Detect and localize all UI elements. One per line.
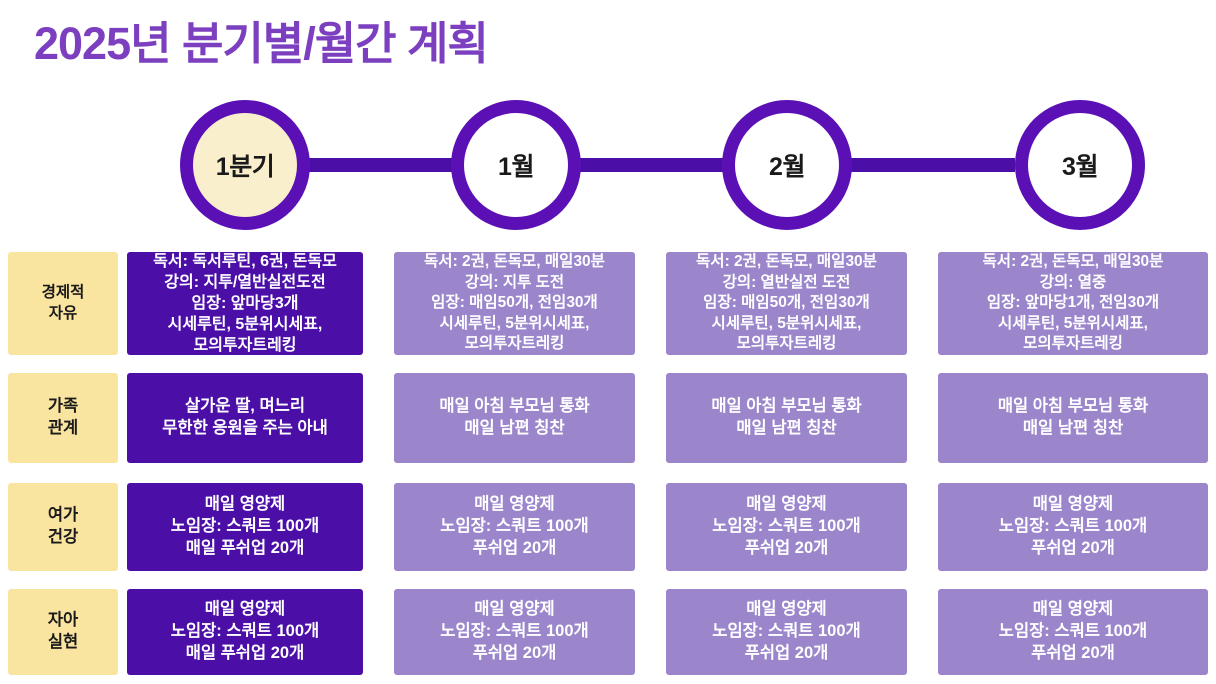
text-line: 노임장: 스쿼트 100개 [712, 516, 860, 538]
text-line: 강의: 지투/열반실전도전 [153, 272, 337, 293]
text-line: 임장: 앞마당1개, 전임30개 [983, 293, 1164, 313]
row-label-text: 자아실현 [48, 610, 78, 654]
cell-text: 매일 영양제노임장: 스쿼트 100개매일 푸쉬업 20개 [171, 494, 319, 559]
text-line: 시세루틴, 5분위시세표, [696, 314, 877, 334]
cell-text: 매일 아침 부모님 통화매일 남편 칭찬 [711, 396, 861, 440]
cell-month-jan[interactable]: 독서: 2권, 돈독모, 매일30분강의: 지투 도전임장: 매임50개, 전임… [394, 252, 635, 355]
cell-text: 독서: 2권, 돈독모, 매일30분강의: 열반실전 도전임장: 매임50개, … [696, 252, 877, 354]
connector-feb-mar [843, 158, 1015, 172]
text-line: 실현 [48, 632, 78, 654]
text-line: 매일 아침 부모님 통화 [998, 396, 1148, 418]
timeline-node-label: 2월 [769, 147, 805, 183]
text-line: 노임장: 스쿼트 100개 [171, 621, 319, 643]
row-label-leisure-health: 여가건강 [8, 483, 118, 571]
text-line: 노임장: 스쿼트 100개 [440, 516, 588, 538]
timeline-node-label: 1월 [498, 147, 534, 183]
text-line: 매일 영양제 [171, 599, 319, 621]
timeline: 1분기 1월 2월 3월 [0, 100, 1216, 232]
timeline-node-jan[interactable]: 1월 [451, 100, 581, 230]
text-line: 매일 푸쉬업 20개 [171, 643, 319, 665]
text-line: 푸쉬업 20개 [440, 643, 588, 665]
text-line: 푸쉬업 20개 [999, 538, 1147, 560]
text-line: 매일 영양제 [712, 599, 860, 621]
text-line: 매일 남편 칭찬 [998, 418, 1148, 440]
page-title: 2025년 분기별/월간 계획 [34, 18, 488, 70]
text-line: 노임장: 스쿼트 100개 [171, 516, 319, 538]
cell-quarter[interactable]: 매일 영양제노임장: 스쿼트 100개매일 푸쉬업 20개 [127, 589, 363, 675]
text-line: 가족 [48, 396, 78, 418]
text-line: 매일 영양제 [440, 599, 588, 621]
cell-text: 매일 영양제노임장: 스쿼트 100개푸쉬업 20개 [440, 494, 588, 559]
cell-text: 매일 영양제노임장: 스쿼트 100개푸쉬업 20개 [440, 599, 588, 664]
slide-root: 2025년 분기별/월간 계획 1분기 1월 2월 3월 경제적자유 독서: 독… [0, 0, 1216, 684]
cell-text: 매일 영양제노임장: 스쿼트 100개푸쉬업 20개 [999, 494, 1147, 559]
cell-month-mar[interactable]: 매일 아침 부모님 통화매일 남편 칭찬 [938, 373, 1208, 463]
text-line: 임장: 앞마당3개 [153, 293, 337, 314]
cell-month-jan[interactable]: 매일 영양제노임장: 스쿼트 100개푸쉬업 20개 [394, 483, 635, 571]
timeline-node-quarter[interactable]: 1분기 [180, 100, 310, 230]
text-line: 경제적 [42, 283, 85, 303]
text-line: 노임장: 스쿼트 100개 [440, 621, 588, 643]
cell-quarter[interactable]: 매일 영양제노임장: 스쿼트 100개매일 푸쉬업 20개 [127, 483, 363, 571]
text-line: 노임장: 스쿼트 100개 [999, 621, 1147, 643]
text-line: 푸쉬업 20개 [440, 538, 588, 560]
text-line: 시세루틴, 5분위시세표, [983, 314, 1164, 334]
cell-text: 매일 아침 부모님 통화매일 남편 칭찬 [998, 396, 1148, 440]
text-line: 강의: 지투 도전 [424, 273, 605, 293]
cell-quarter[interactable]: 살가운 딸, 며느리무한한 응원을 주는 아내 [127, 373, 363, 463]
cell-text: 매일 아침 부모님 통화매일 남편 칭찬 [439, 396, 589, 440]
table-row: 가족관계 살가운 딸, 며느리무한한 응원을 주는 아내 매일 아침 부모님 통… [0, 373, 1216, 463]
text-line: 시세루틴, 5분위시세표, [424, 314, 605, 334]
text-line: 매일 아침 부모님 통화 [439, 396, 589, 418]
text-line: 자아 [48, 610, 78, 632]
cell-month-feb[interactable]: 매일 영양제노임장: 스쿼트 100개푸쉬업 20개 [666, 483, 907, 571]
text-line: 매일 아침 부모님 통화 [711, 396, 861, 418]
text-line: 매일 영양제 [999, 494, 1147, 516]
cell-text: 독서: 2권, 돈독모, 매일30분강의: 지투 도전임장: 매임50개, 전임… [424, 252, 605, 354]
text-line: 모의투자트레킹 [153, 335, 337, 356]
connector-jan-feb [572, 158, 732, 172]
cell-month-jan[interactable]: 매일 영양제노임장: 스쿼트 100개푸쉬업 20개 [394, 589, 635, 675]
text-line: 강의: 열반실전 도전 [696, 273, 877, 293]
cell-text: 살가운 딸, 며느리무한한 응원을 주는 아내 [162, 396, 328, 440]
cell-month-mar[interactable]: 매일 영양제노임장: 스쿼트 100개푸쉬업 20개 [938, 483, 1208, 571]
text-line: 매일 영양제 [999, 599, 1147, 621]
table-row: 여가건강 매일 영양제노임장: 스쿼트 100개매일 푸쉬업 20개 매일 영양… [0, 483, 1216, 571]
text-line: 시세루틴, 5분위시세표, [153, 314, 337, 335]
text-line: 임장: 매임50개, 전임30개 [424, 293, 605, 313]
text-line: 건강 [48, 527, 78, 549]
row-label-text: 가족관계 [48, 396, 78, 440]
text-line: 자유 [42, 304, 85, 324]
text-line: 모의투자트레킹 [696, 334, 877, 354]
cell-month-jan[interactable]: 매일 아침 부모님 통화매일 남편 칭찬 [394, 373, 635, 463]
text-line: 여가 [48, 505, 78, 527]
text-line: 독서: 2권, 돈독모, 매일30분 [983, 252, 1164, 272]
text-line: 매일 영양제 [712, 494, 860, 516]
row-label-self-realization: 자아실현 [8, 589, 118, 675]
text-line: 노임장: 스쿼트 100개 [712, 621, 860, 643]
cell-month-feb[interactable]: 매일 영양제노임장: 스쿼트 100개푸쉬업 20개 [666, 589, 907, 675]
text-line: 매일 남편 칭찬 [711, 418, 861, 440]
table-row: 경제적자유 독서: 독서루틴, 6권, 돈독모강의: 지투/열반실전도전임장: … [0, 252, 1216, 355]
row-label-family-relations: 가족관계 [8, 373, 118, 463]
cell-text: 독서: 독서루틴, 6권, 돈독모강의: 지투/열반실전도전임장: 앞마당3개시… [153, 251, 337, 357]
text-line: 매일 남편 칭찬 [439, 418, 589, 440]
row-label-text: 여가건강 [48, 505, 78, 549]
cell-text: 매일 영양제노임장: 스쿼트 100개푸쉬업 20개 [712, 599, 860, 664]
cell-text: 매일 영양제노임장: 스쿼트 100개매일 푸쉬업 20개 [171, 599, 319, 664]
text-line: 매일 영양제 [171, 494, 319, 516]
timeline-node-label: 1분기 [216, 147, 274, 183]
cell-month-feb[interactable]: 매일 아침 부모님 통화매일 남편 칭찬 [666, 373, 907, 463]
text-line: 독서: 2권, 돈독모, 매일30분 [424, 252, 605, 272]
table-row: 자아실현 매일 영양제노임장: 스쿼트 100개매일 푸쉬업 20개 매일 영양… [0, 589, 1216, 675]
row-label-text: 경제적자유 [42, 283, 85, 324]
text-line: 강의: 열중 [983, 273, 1164, 293]
text-line: 매일 푸쉬업 20개 [171, 538, 319, 560]
row-label-economic-freedom: 경제적자유 [8, 252, 118, 355]
cell-text: 매일 영양제노임장: 스쿼트 100개푸쉬업 20개 [999, 599, 1147, 664]
text-line: 무한한 응원을 주는 아내 [162, 418, 328, 440]
cell-month-feb[interactable]: 독서: 2권, 돈독모, 매일30분강의: 열반실전 도전임장: 매임50개, … [666, 252, 907, 355]
text-line: 모의투자트레킹 [983, 334, 1164, 354]
text-line: 독서: 독서루틴, 6권, 돈독모 [153, 251, 337, 272]
text-line: 임장: 매임50개, 전임30개 [696, 293, 877, 313]
cell-quarter[interactable]: 독서: 독서루틴, 6권, 돈독모강의: 지투/열반실전도전임장: 앞마당3개시… [127, 252, 363, 355]
timeline-node-label: 3월 [1062, 147, 1098, 183]
text-line: 독서: 2권, 돈독모, 매일30분 [696, 252, 877, 272]
cell-text: 매일 영양제노임장: 스쿼트 100개푸쉬업 20개 [712, 494, 860, 559]
cell-month-mar[interactable]: 독서: 2권, 돈독모, 매일30분강의: 열중임장: 앞마당1개, 전임30개… [938, 252, 1208, 355]
text-line: 모의투자트레킹 [424, 334, 605, 354]
text-line: 살가운 딸, 며느리 [162, 396, 328, 418]
connector-q1-jan [300, 158, 460, 172]
text-line: 관계 [48, 418, 78, 440]
timeline-node-mar[interactable]: 3월 [1015, 100, 1145, 230]
cell-month-mar[interactable]: 매일 영양제노임장: 스쿼트 100개푸쉬업 20개 [938, 589, 1208, 675]
text-line: 매일 영양제 [440, 494, 588, 516]
text-line: 푸쉬업 20개 [712, 643, 860, 665]
text-line: 노임장: 스쿼트 100개 [999, 516, 1147, 538]
timeline-node-feb[interactable]: 2월 [722, 100, 852, 230]
text-line: 푸쉬업 20개 [712, 538, 860, 560]
cell-text: 독서: 2권, 돈독모, 매일30분강의: 열중임장: 앞마당1개, 전임30개… [983, 252, 1164, 354]
text-line: 푸쉬업 20개 [999, 643, 1147, 665]
